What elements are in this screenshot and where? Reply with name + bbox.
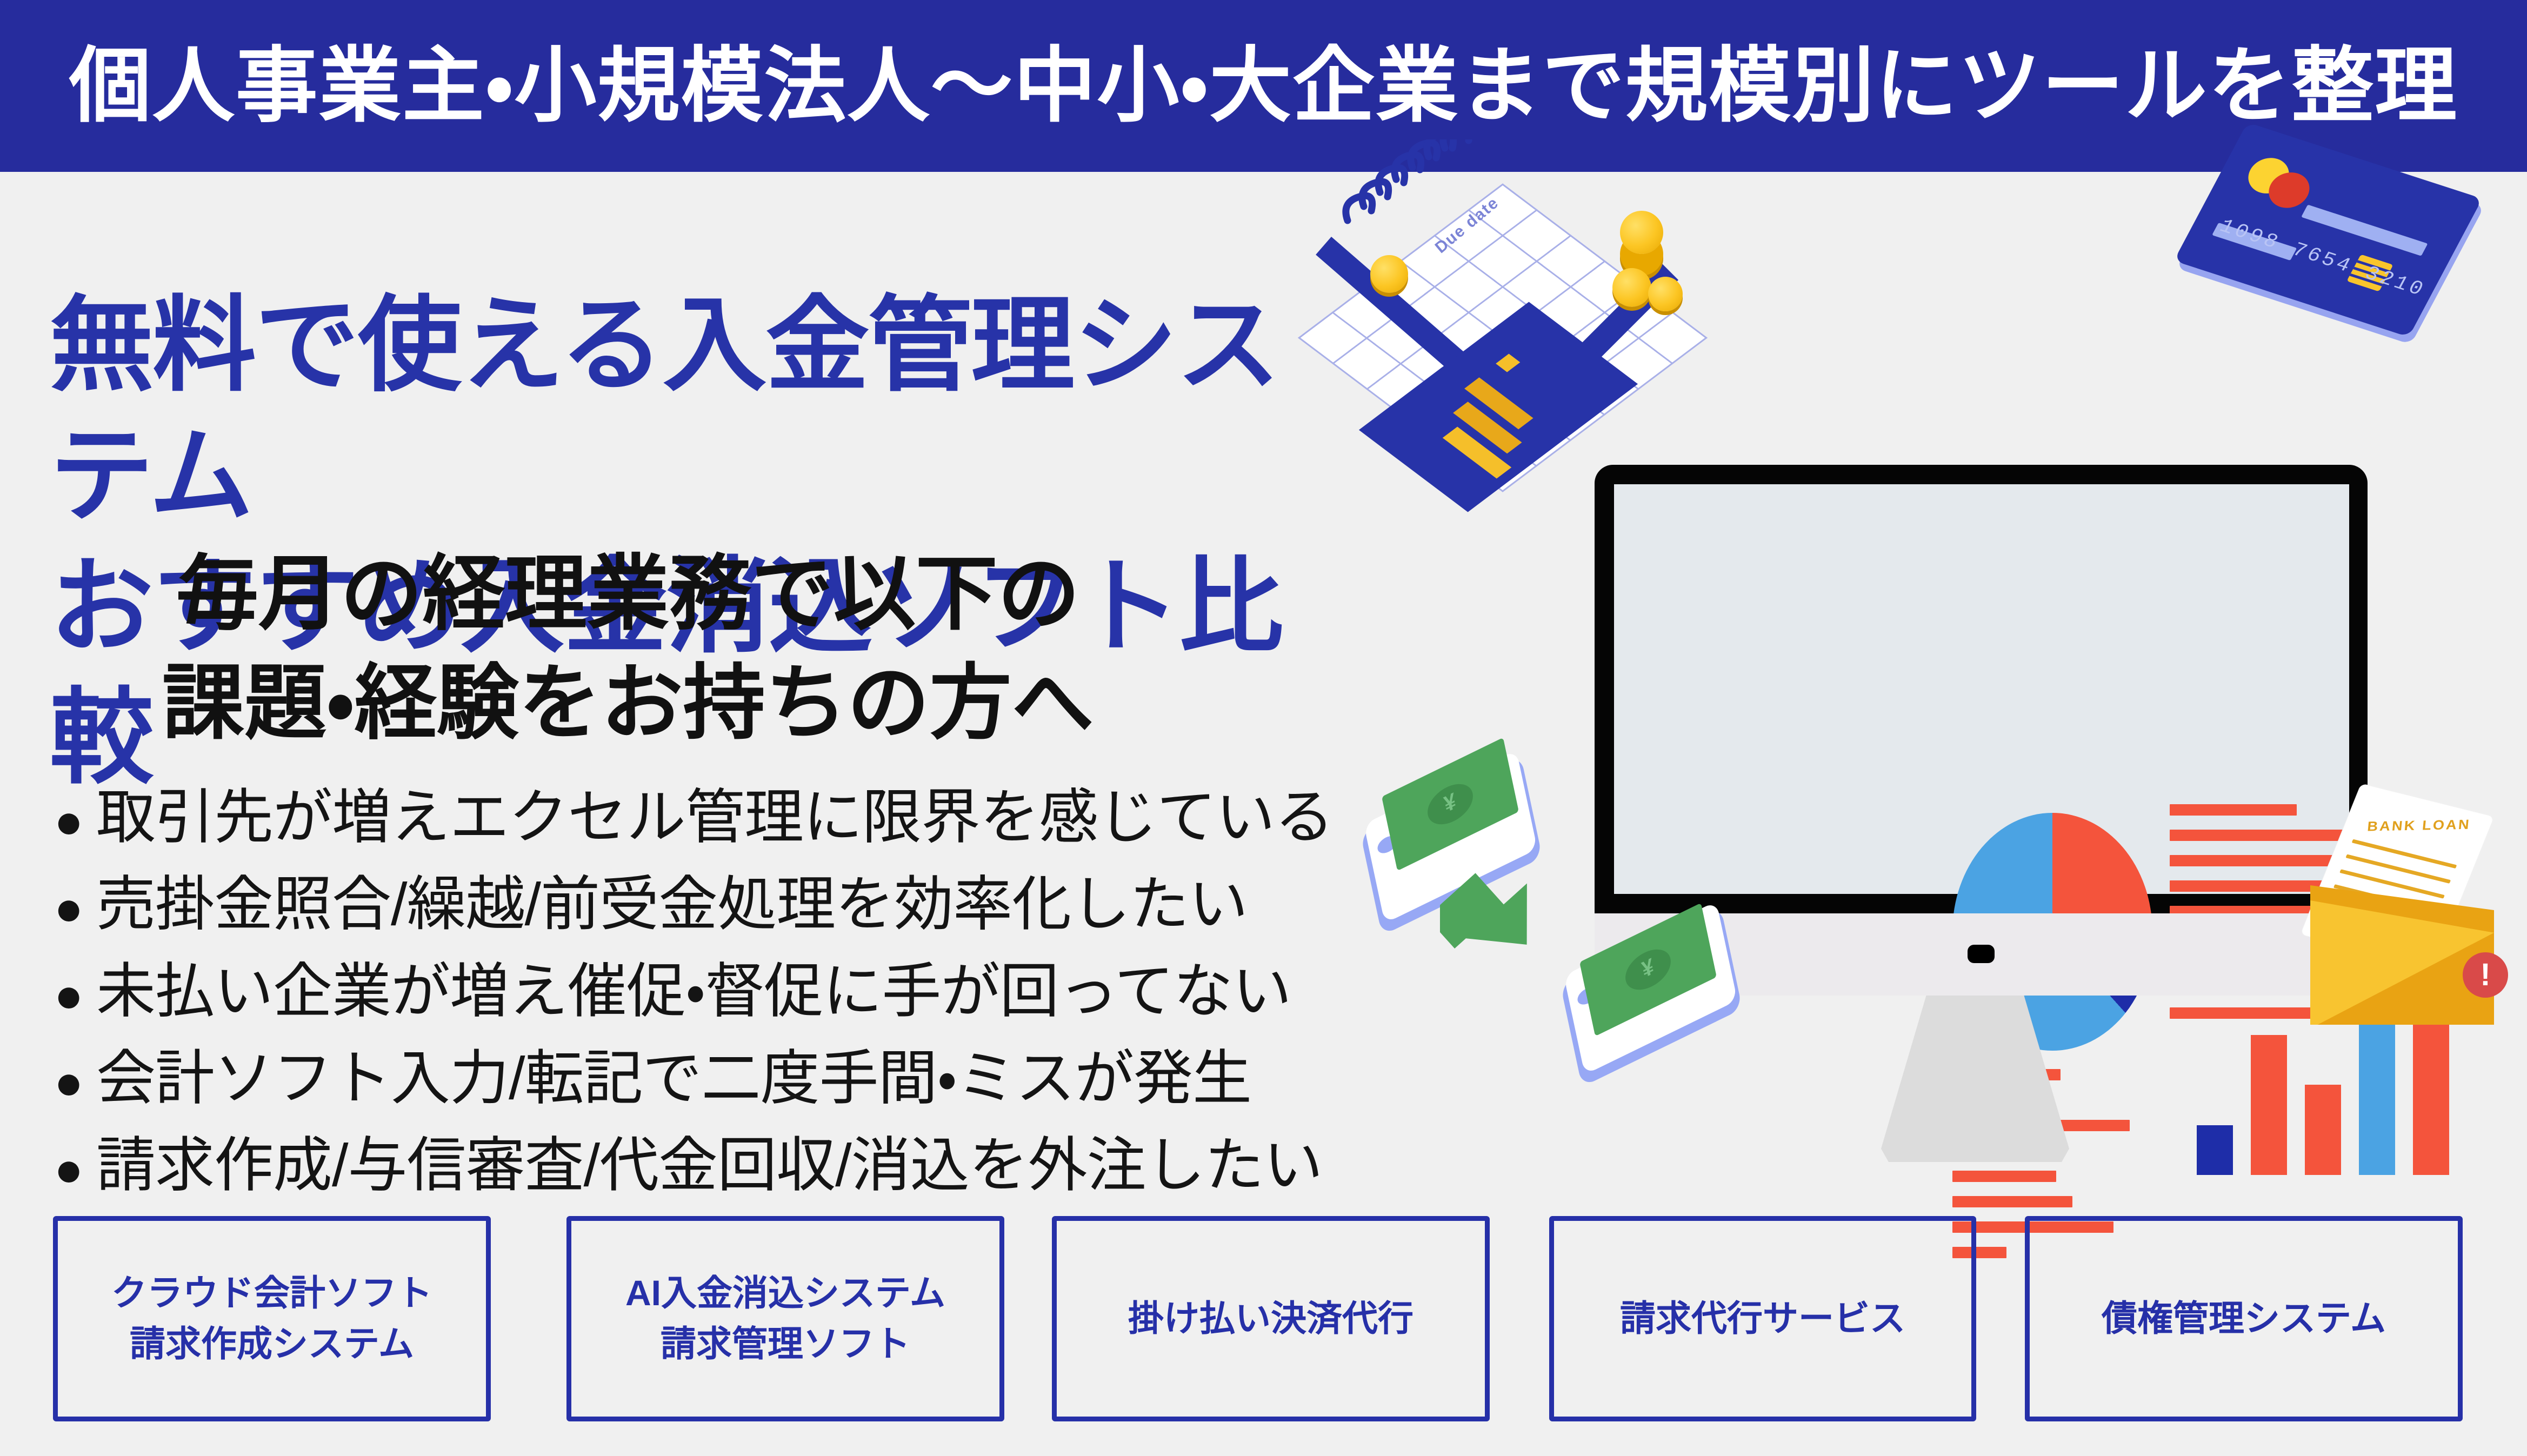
- bar: [2305, 1085, 2341, 1175]
- bar: [2197, 1125, 2233, 1175]
- bar: [2413, 1012, 2449, 1175]
- category-button-row: クラウド会計ソフト 請求作成システム AI入金消込システム 請求管理ソフト 掛け…: [0, 1216, 2527, 1427]
- letter-line: [2345, 854, 2451, 883]
- monitor-logo-icon: [1968, 945, 1995, 963]
- bullet-dot-icon: ●: [54, 1058, 74, 1107]
- coin-icon: [1612, 268, 1651, 307]
- list-item: ● 請求作成/与信審査/代金回収/消込を外注したい: [54, 1136, 1333, 1195]
- pain-point-text: 会計ソフト入力/転記で二度手間・ミスが発生: [96, 1049, 1251, 1108]
- bullet-dot-icon: ●: [54, 797, 74, 846]
- page-subtitle-line-2: 課題・経験をお持ちの方へ: [162, 649, 1094, 758]
- pain-point-text: 売掛金照合/繰越/前受金処理を効率化したい: [96, 875, 1248, 934]
- hero-illustration: Due date 1098 7654 3210: [1324, 205, 2527, 1194]
- transfer-arrow-icon: [1440, 866, 1586, 969]
- page-banner: 個人事業主・小規模法人〜中小・大企業まで規模別にツールを整理: [0, 0, 2527, 172]
- category-button-deferred-payment[interactable]: 掛け払い決済代行: [1052, 1216, 1490, 1421]
- page-subtitle-line-1: 毎月の経理業務で以下の: [162, 539, 1094, 649]
- bank-loan-envelope: BANK LOAN !: [2297, 794, 2524, 1027]
- category-button-label: クラウド会計ソフト 請求作成システム: [111, 1268, 432, 1369]
- pain-point-text: 請求作成/与信審査/代金回収/消込を外注したい: [96, 1136, 1323, 1195]
- list-item: ● 会計ソフト入力/転記で二度手間・ミスが発生: [54, 1049, 1333, 1108]
- list-item: ● 売掛金照合/繰越/前受金処理を効率化したい: [54, 875, 1333, 934]
- list-item: ● 取引先が増えエクセル管理に限界を感じている: [54, 788, 1333, 847]
- pain-point-text: 未払い企業が増え催促・督促に手が回ってない: [96, 962, 1291, 1021]
- card-number: 1098 7654 3210: [2215, 215, 2429, 302]
- currency-mark: ¥: [1424, 777, 1476, 832]
- page-title-line-1: 無料で使える入金管理システム: [50, 280, 1297, 542]
- bullet-dot-icon: ●: [54, 884, 74, 933]
- currency-symbol: ¥: [1640, 954, 1656, 984]
- category-button-invoice-agency[interactable]: 請求代行サービス: [1549, 1216, 1976, 1421]
- currency-mark: ¥: [1622, 942, 1674, 998]
- page-subtitle: 毎月の経理業務で以下の 課題・経験をお持ちの方へ: [162, 539, 1094, 758]
- pain-point-list: ● 取引先が増えエクセル管理に限界を感じている ● 売掛金照合/繰越/前受金処理…: [54, 788, 1333, 1223]
- bullet-dot-icon: ●: [54, 971, 74, 1020]
- category-button-label: 掛け払い決済代行: [1128, 1293, 1413, 1344]
- coin-icon: [1648, 277, 1683, 311]
- bank-loan-label: BANK LOAN: [2366, 817, 2471, 835]
- category-button-label: 請求代行サービス: [1620, 1293, 1905, 1344]
- hero-text-column: 無料で使える入金管理システム おすすめ入金消込ソフト比較 毎月の経理業務で以下の…: [0, 172, 1297, 1199]
- category-button-label: 債権管理システム: [2102, 1293, 2386, 1344]
- coin-icon: [1370, 255, 1408, 293]
- invoice-marker: [1496, 354, 1520, 372]
- category-button-label: AI入金消込システム 請求管理ソフト: [625, 1268, 945, 1369]
- pain-point-text: 取引先が増えエクセル管理に限界を感じている: [96, 788, 1333, 847]
- category-button-receivables-management[interactable]: 債権管理システム: [2025, 1216, 2463, 1421]
- list-item: ● 未払い企業が増え催促・督促に手が回ってない: [54, 962, 1333, 1021]
- monitor-screen: [1614, 484, 2349, 894]
- banner-title: 個人事業主・小規模法人〜中小・大企業まで規模別にツールを整理: [69, 45, 2458, 127]
- category-button-cloud-accounting[interactable]: クラウド会計ソフト 請求作成システム: [53, 1216, 491, 1421]
- bullet-dot-icon: ●: [54, 1145, 74, 1194]
- currency-symbol: ¥: [1442, 789, 1458, 818]
- calendar-illustration: Due date: [1322, 135, 1711, 481]
- coin-stack-icon: [1620, 211, 1663, 254]
- category-button-ai-reconciliation[interactable]: AI入金消込システム 請求管理ソフト: [566, 1216, 1004, 1421]
- bar: [2251, 1035, 2287, 1175]
- alert-badge: !: [2463, 952, 2508, 998]
- letter-line: [2352, 839, 2457, 869]
